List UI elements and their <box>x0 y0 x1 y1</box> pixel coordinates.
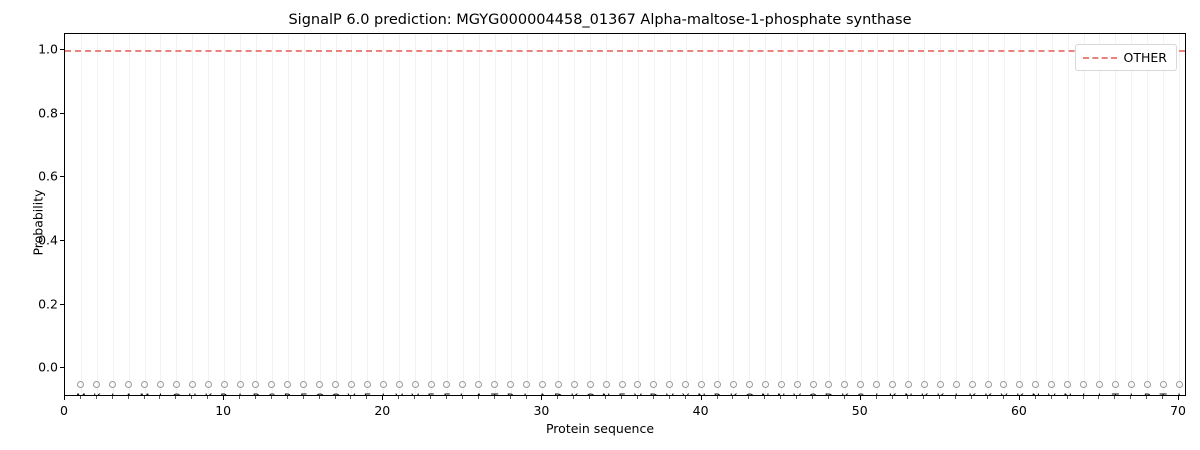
gridline <box>718 34 719 395</box>
gridline <box>383 34 384 395</box>
x-axis-minor-tick <box>653 396 654 399</box>
y-axis-tick-label: 0.4 <box>38 232 58 247</box>
gridline <box>686 34 687 395</box>
gridline <box>558 34 559 395</box>
residue-letter: D <box>824 393 833 396</box>
residue-marker <box>157 381 164 388</box>
residue-letter: E <box>618 393 625 396</box>
gridline <box>813 34 814 395</box>
residue-marker <box>380 381 387 388</box>
residue-marker <box>746 381 753 388</box>
residue-marker <box>873 381 880 388</box>
x-axis-minor-tick <box>112 396 113 399</box>
y-axis-tick-label: 0.8 <box>38 105 58 120</box>
residue-marker <box>587 381 594 388</box>
gridline <box>924 34 925 395</box>
gridline <box>1036 34 1037 395</box>
residue-letter: N <box>777 393 786 396</box>
gridline <box>431 34 432 395</box>
gridline <box>304 34 305 395</box>
residue-marker <box>714 381 721 388</box>
residue-letter: R <box>284 393 292 396</box>
x-axis-tick-label: 40 <box>693 403 709 418</box>
x-axis-tick-label: 70 <box>1170 403 1186 418</box>
residue-letter: K <box>937 393 945 396</box>
residue-letter: T <box>1160 393 1167 396</box>
residue-letter: A <box>475 393 483 396</box>
x-axis-minor-tick <box>430 396 431 399</box>
x-axis-minor-tick <box>1146 396 1147 399</box>
residue-letter: N <box>1031 393 1040 396</box>
gridline <box>1179 34 1180 395</box>
residue-letter: R <box>714 393 722 396</box>
gridline <box>256 34 257 395</box>
gridline <box>702 34 703 395</box>
residue-marker <box>762 381 769 388</box>
gridline <box>845 34 846 395</box>
gridline <box>1115 34 1116 395</box>
x-axis-minor-tick <box>446 396 447 399</box>
residue-marker <box>1048 381 1055 388</box>
residue-marker <box>953 381 960 388</box>
residue-marker <box>666 381 673 388</box>
gridline <box>1131 34 1132 395</box>
residue-marker <box>1080 381 1087 388</box>
x-axis-minor-tick <box>1051 396 1052 399</box>
residue-marker <box>730 381 737 388</box>
residue-letter: V <box>1048 393 1056 396</box>
plot-area: MKIAMIGHKRIPSREGGVEIVVEELATRLADKGNEVDVYN… <box>64 33 1186 396</box>
x-axis-minor-tick <box>478 396 479 399</box>
gridline <box>542 34 543 395</box>
x-axis-minor-tick <box>573 396 574 399</box>
legend-swatch-other-icon <box>1083 57 1117 59</box>
x-axis-minor-tick <box>637 396 638 399</box>
residue-marker <box>969 381 976 388</box>
residue-marker <box>348 381 355 388</box>
gridline <box>988 34 989 395</box>
residue-marker <box>603 381 610 388</box>
residue-letter: E <box>427 393 434 396</box>
x-axis-tick-label: 60 <box>1011 403 1027 418</box>
residue-letter: S <box>268 393 275 396</box>
gridline <box>288 34 289 395</box>
x-axis-tick-label: 20 <box>374 403 390 418</box>
residue-marker <box>841 381 848 388</box>
residue-letter: R <box>507 393 515 396</box>
residue-marker <box>412 381 419 388</box>
residue-letter: E <box>364 393 371 396</box>
residue-letter: V <box>666 393 674 396</box>
page-title: SignalP 6.0 prediction: MGYG000004458_01… <box>0 12 1200 28</box>
residue-letter: P <box>1144 393 1151 396</box>
gridline <box>176 34 177 395</box>
residue-marker <box>173 381 180 388</box>
residue-letter: T <box>491 393 498 396</box>
residue-marker <box>1032 381 1039 388</box>
residue-letter: M <box>140 393 150 396</box>
residue-letter: D <box>649 393 658 396</box>
x-axis-minor-tick <box>128 396 129 399</box>
x-axis-minor-tick <box>287 396 288 399</box>
x-axis-minor-tick <box>462 396 463 399</box>
residue-marker <box>459 381 466 388</box>
x-axis-minor-tick <box>717 396 718 399</box>
residue-marker <box>555 381 562 388</box>
x-axis-minor-tick <box>1162 396 1163 399</box>
gridline <box>893 34 894 395</box>
y-axis-tick-label: 0.0 <box>38 360 58 375</box>
residue-letter: H <box>188 393 197 396</box>
gridline <box>81 34 82 395</box>
residue-letter: P <box>253 393 260 396</box>
x-axis-tick <box>382 396 383 400</box>
x-axis-tick-label: 50 <box>852 403 868 418</box>
gridline <box>351 34 352 395</box>
gridline <box>940 34 941 395</box>
x-axis-minor-tick <box>1035 396 1036 399</box>
legend[interactable]: OTHER <box>1075 44 1177 71</box>
residue-marker <box>825 381 832 388</box>
x-axis-minor-tick <box>669 396 670 399</box>
gridline <box>1020 34 1021 395</box>
x-axis-tick-label: 10 <box>215 403 231 418</box>
x-axis-minor-tick <box>812 396 813 399</box>
residue-letter: V <box>395 393 403 396</box>
residue-marker <box>507 381 514 388</box>
residue-letter: Q <box>808 393 817 396</box>
residue-marker <box>300 381 307 388</box>
x-axis-minor-tick <box>987 396 988 399</box>
residue-marker <box>332 381 339 388</box>
y-axis-tick <box>60 176 64 177</box>
x-axis-minor-tick <box>828 396 829 399</box>
residue-letter: A <box>539 393 547 396</box>
residue-letter: Y <box>1000 393 1007 396</box>
x-axis-tick <box>541 396 542 400</box>
residue-marker <box>985 381 992 388</box>
series-line-other <box>65 50 1185 52</box>
x-axis-minor-tick <box>526 396 527 399</box>
x-axis-minor-tick <box>1083 396 1084 399</box>
residue-letter: G <box>315 393 324 396</box>
residue-letter: Y <box>682 393 689 396</box>
gridline <box>415 34 416 395</box>
gridline <box>527 34 528 395</box>
residue-letter: K <box>93 393 101 396</box>
x-axis-minor-tick <box>732 396 733 399</box>
residue-marker <box>1064 381 1071 388</box>
residue-letter: E <box>443 393 450 396</box>
gridline <box>1004 34 1005 395</box>
residue-marker <box>284 381 291 388</box>
residue-letter: K <box>921 393 929 396</box>
residue-marker <box>1160 381 1167 388</box>
x-axis-label: Protein sequence <box>0 421 1200 436</box>
x-axis-minor-tick <box>876 396 877 399</box>
x-axis-minor-tick <box>796 396 797 399</box>
residue-marker <box>93 381 100 388</box>
x-axis-minor-tick <box>239 396 240 399</box>
residue-marker <box>889 381 896 388</box>
gridline <box>908 34 909 395</box>
residue-marker <box>364 381 371 388</box>
gridline <box>590 34 591 395</box>
x-axis-minor-tick <box>271 396 272 399</box>
gridline <box>829 34 830 395</box>
y-axis-tick <box>60 49 64 50</box>
residue-marker <box>539 381 546 388</box>
residue-marker <box>396 381 403 388</box>
residue-letter: V <box>411 393 419 396</box>
x-axis-minor-tick <box>1003 396 1004 399</box>
gridline <box>1068 34 1069 395</box>
gridline <box>495 34 496 395</box>
x-axis-minor-tick <box>907 396 908 399</box>
residue-marker <box>1176 381 1183 388</box>
gridline <box>272 34 273 395</box>
residue-letter: K <box>730 393 738 396</box>
gridline <box>224 34 225 395</box>
x-axis-tick-label: 30 <box>533 403 549 418</box>
residue-letter: D <box>554 393 563 396</box>
x-axis-minor-tick <box>748 396 749 399</box>
residue-letter: V <box>793 393 801 396</box>
gridline <box>192 34 193 395</box>
residue-letter: K <box>889 393 897 396</box>
x-axis-minor-tick <box>923 396 924 399</box>
gridline <box>733 34 734 395</box>
residue-marker <box>125 381 132 388</box>
x-axis-minor-tick <box>780 396 781 399</box>
x-axis-minor-tick <box>207 396 208 399</box>
gridline <box>1163 34 1164 395</box>
x-axis-tick-label: 0 <box>60 403 68 418</box>
residue-marker <box>268 381 275 388</box>
x-axis-minor-tick <box>350 396 351 399</box>
residue-marker <box>921 381 928 388</box>
residue-marker <box>937 381 944 388</box>
residue-marker <box>237 381 244 388</box>
gridline <box>511 34 512 395</box>
x-axis-minor-tick <box>510 396 511 399</box>
residue-marker <box>682 381 689 388</box>
residue-letter: N <box>697 393 706 396</box>
gridline <box>1099 34 1100 395</box>
x-axis-minor-tick <box>955 396 956 399</box>
gridline <box>877 34 878 395</box>
residue-letter: R <box>220 393 228 396</box>
gridline <box>160 34 161 395</box>
x-axis-tick <box>701 396 702 400</box>
residue-letter: A <box>125 393 133 396</box>
residue-marker <box>1112 381 1119 388</box>
gridline <box>208 34 209 395</box>
residue-marker <box>1128 381 1135 388</box>
gridline <box>129 34 130 395</box>
y-axis-tick-label: 0.2 <box>38 296 58 311</box>
x-axis-minor-tick <box>764 396 765 399</box>
x-axis-minor-tick <box>319 396 320 399</box>
gridline <box>797 34 798 395</box>
residue-letter: L <box>523 393 529 396</box>
residue-letter: L <box>460 393 466 396</box>
x-axis-minor-tick <box>366 396 367 399</box>
residue-letter: M <box>76 393 86 396</box>
residue-letter: K <box>968 393 976 396</box>
x-axis-tick <box>64 396 65 400</box>
gridline <box>1052 34 1053 395</box>
residue-letter: K <box>204 393 212 396</box>
residue-marker <box>316 381 323 388</box>
x-axis-minor-tick <box>335 396 336 399</box>
gridline <box>972 34 973 395</box>
gridline <box>654 34 655 395</box>
gridline <box>336 34 337 395</box>
x-axis-minor-tick <box>892 396 893 399</box>
y-axis-tick <box>60 113 64 114</box>
residue-marker <box>1144 381 1151 388</box>
x-axis-minor-tick <box>144 396 145 399</box>
x-axis-minor-tick <box>589 396 590 399</box>
gridline <box>145 34 146 395</box>
residue-marker <box>905 381 912 388</box>
signalp-prediction-figure: SignalP 6.0 prediction: MGYG000004458_01… <box>0 0 1200 450</box>
x-axis-minor-tick <box>175 396 176 399</box>
residue-marker <box>443 381 450 388</box>
residue-letter: E <box>300 393 307 396</box>
gridline <box>320 34 321 395</box>
residue-marker <box>857 381 864 388</box>
gridline <box>97 34 98 395</box>
residue-marker <box>698 381 705 388</box>
x-axis-minor-tick <box>80 396 81 399</box>
residue-marker <box>252 381 259 388</box>
gridline <box>622 34 623 395</box>
residue-marker <box>523 381 530 388</box>
residue-letter: V <box>634 393 642 396</box>
x-axis-minor-tick <box>939 396 940 399</box>
residue-marker <box>1096 381 1103 388</box>
x-axis-minor-tick <box>557 396 558 399</box>
gridline <box>447 34 448 395</box>
x-axis-minor-tick <box>191 396 192 399</box>
x-axis-tick <box>1178 396 1179 400</box>
residue-letter: N <box>761 393 770 396</box>
gridline <box>765 34 766 395</box>
residue-marker <box>141 381 148 388</box>
residue-marker <box>810 381 817 388</box>
gridline <box>463 34 464 395</box>
x-axis-minor-tick <box>494 396 495 399</box>
residue-letter: G <box>331 393 340 396</box>
residue-marker <box>634 381 641 388</box>
y-axis-tick <box>60 240 64 241</box>
legend-label-other: OTHER <box>1124 50 1167 65</box>
x-axis-minor-tick <box>1098 396 1099 399</box>
gridline <box>781 34 782 395</box>
residue-marker <box>619 381 626 388</box>
x-axis-minor-tick <box>1067 396 1068 399</box>
x-axis-tick <box>223 396 224 400</box>
residue-marker <box>794 381 801 388</box>
residue-marker <box>475 381 482 388</box>
x-axis-minor-tick <box>621 396 622 399</box>
residue-letter: N <box>904 393 913 396</box>
residue-letter: S <box>857 393 864 396</box>
gridline <box>638 34 639 395</box>
gridline <box>749 34 750 395</box>
residue-letter: G <box>172 393 181 396</box>
gridline <box>399 34 400 395</box>
residue-marker <box>650 381 657 388</box>
x-axis-minor-tick <box>605 396 606 399</box>
x-axis-minor-tick <box>844 396 845 399</box>
gridline <box>113 34 114 395</box>
residue-letter: K <box>1016 393 1024 396</box>
residue-letter: T <box>1112 393 1119 396</box>
residue-marker <box>428 381 435 388</box>
residue-marker <box>189 381 196 388</box>
y-axis-tick-label: 0.6 <box>38 169 58 184</box>
gridline <box>861 34 862 395</box>
y-axis-tick-label: 1.0 <box>38 41 58 56</box>
x-axis-minor-tick <box>398 396 399 399</box>
x-axis-minor-tick <box>255 396 256 399</box>
gridline <box>670 34 671 395</box>
x-axis-minor-tick <box>971 396 972 399</box>
residue-marker <box>778 381 785 388</box>
gridline <box>1147 34 1148 395</box>
gridline <box>956 34 957 395</box>
x-axis-minor-tick <box>685 396 686 399</box>
residue-marker <box>491 381 498 388</box>
residue-marker <box>109 381 116 388</box>
residue-marker <box>221 381 228 388</box>
residue-letter: N <box>1063 393 1072 396</box>
y-axis-tick <box>60 367 64 368</box>
x-axis-tick <box>860 396 861 400</box>
x-axis-minor-tick <box>1130 396 1131 399</box>
x-axis-minor-tick <box>1114 396 1115 399</box>
y-axis-tick <box>60 304 64 305</box>
x-axis-tick <box>1019 396 1020 400</box>
gridline <box>479 34 480 395</box>
residue-marker <box>571 381 578 388</box>
x-axis-minor-tick <box>303 396 304 399</box>
residue-letter: K <box>984 393 992 396</box>
gridline <box>240 34 241 395</box>
x-axis-minor-tick <box>96 396 97 399</box>
residue-letter: K <box>841 393 849 396</box>
residue-marker <box>77 381 84 388</box>
residue-letter: G <box>745 393 754 396</box>
gridline <box>574 34 575 395</box>
gridline <box>1084 34 1085 395</box>
residue-marker <box>1016 381 1023 388</box>
residue-letter: N <box>602 393 611 396</box>
residue-marker <box>1000 381 1007 388</box>
residue-letter: V <box>348 393 356 396</box>
residue-letter: K <box>570 393 578 396</box>
x-axis-minor-tick <box>159 396 160 399</box>
residue-marker <box>205 381 212 388</box>
x-axis-minor-tick <box>414 396 415 399</box>
residue-letter: G <box>586 393 595 396</box>
gridline <box>367 34 368 395</box>
gridline <box>606 34 607 395</box>
